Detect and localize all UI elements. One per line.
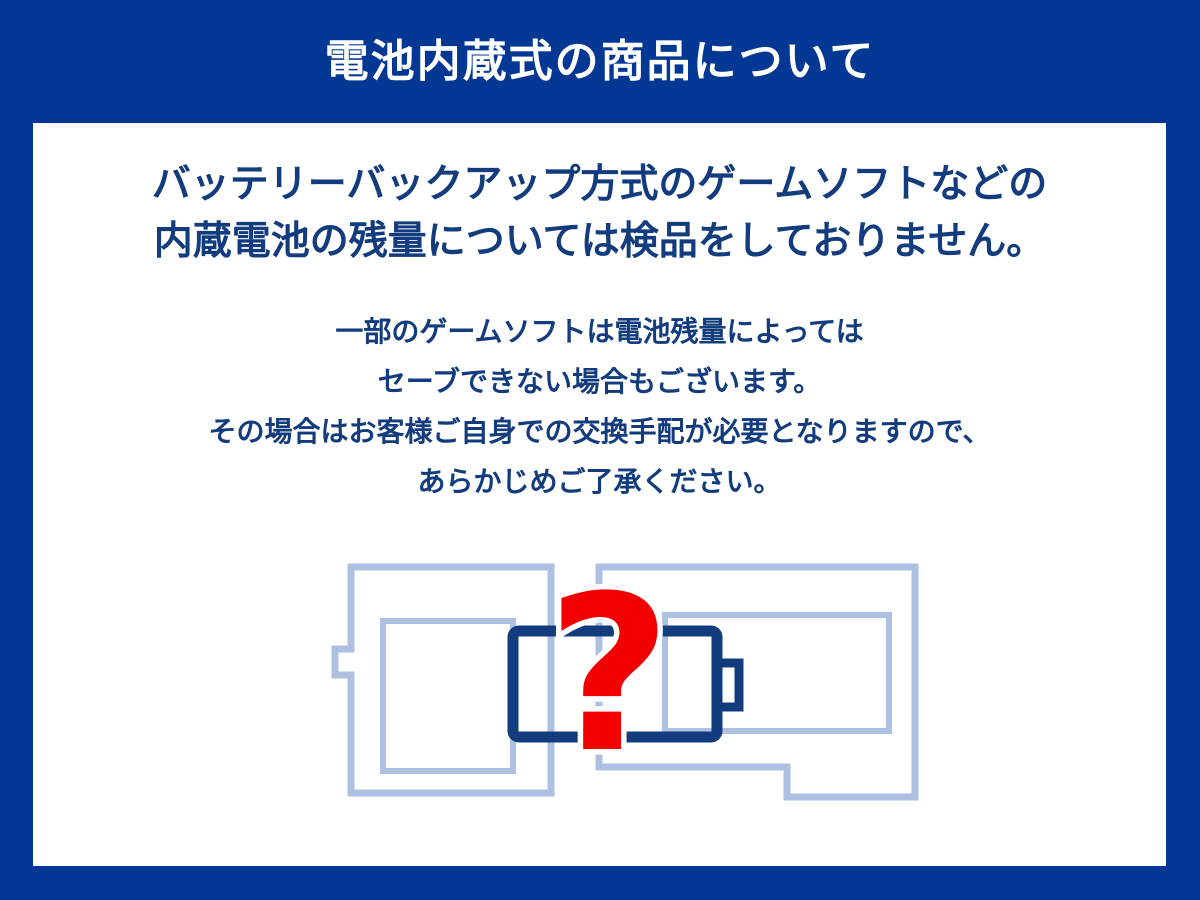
illustration-group: ?: [313, 553, 933, 813]
title-banner: 電池内蔵式の商品について: [0, 0, 1200, 123]
question-mark-icon: ?: [547, 553, 672, 800]
page-title: 電池内蔵式の商品について: [325, 40, 876, 84]
game-cartridge-portrait-icon: [335, 567, 551, 793]
headline-line-1: バッテリーバックアップ方式のゲームソフトなどの: [148, 165, 1051, 204]
headline-block: バッテリーバックアップ方式のゲームソフトなどの 内蔵電池の残量については検品をし…: [33, 165, 1166, 279]
body-line-2: セーブできない場合もございます。: [33, 368, 1166, 396]
body-line-4: あらかじめご了承ください。: [33, 468, 1166, 496]
headline-line-2: 内蔵電池の残量については検品をしておりません。: [150, 222, 1050, 261]
slide-root: 電池内蔵式の商品について バッテリーバックアップ方式のゲームソフトなどの 内蔵電…: [0, 0, 1200, 900]
illustration-svg: ?: [313, 553, 933, 813]
headline-line-1-text: バッテリーバックアップ方式のゲームソフトなどの: [152, 162, 1047, 207]
body-line-1: 一部のゲームソフトは電池残量によっては: [33, 318, 1166, 346]
headline-line-2-text: 内蔵電池の残量については検品をしておりません。: [154, 219, 1046, 264]
question-mark-glyph: ?: [547, 553, 672, 800]
body-block: 一部のゲームソフトは電池残量によっては セーブできない場合もございます。 その場…: [33, 318, 1166, 518]
body-line-3: その場合はお客様ご自身での交換手配が必要となりますので、: [33, 418, 1166, 446]
content-card: バッテリーバックアップ方式のゲームソフトなどの 内蔵電池の残量については検品をし…: [33, 123, 1166, 866]
